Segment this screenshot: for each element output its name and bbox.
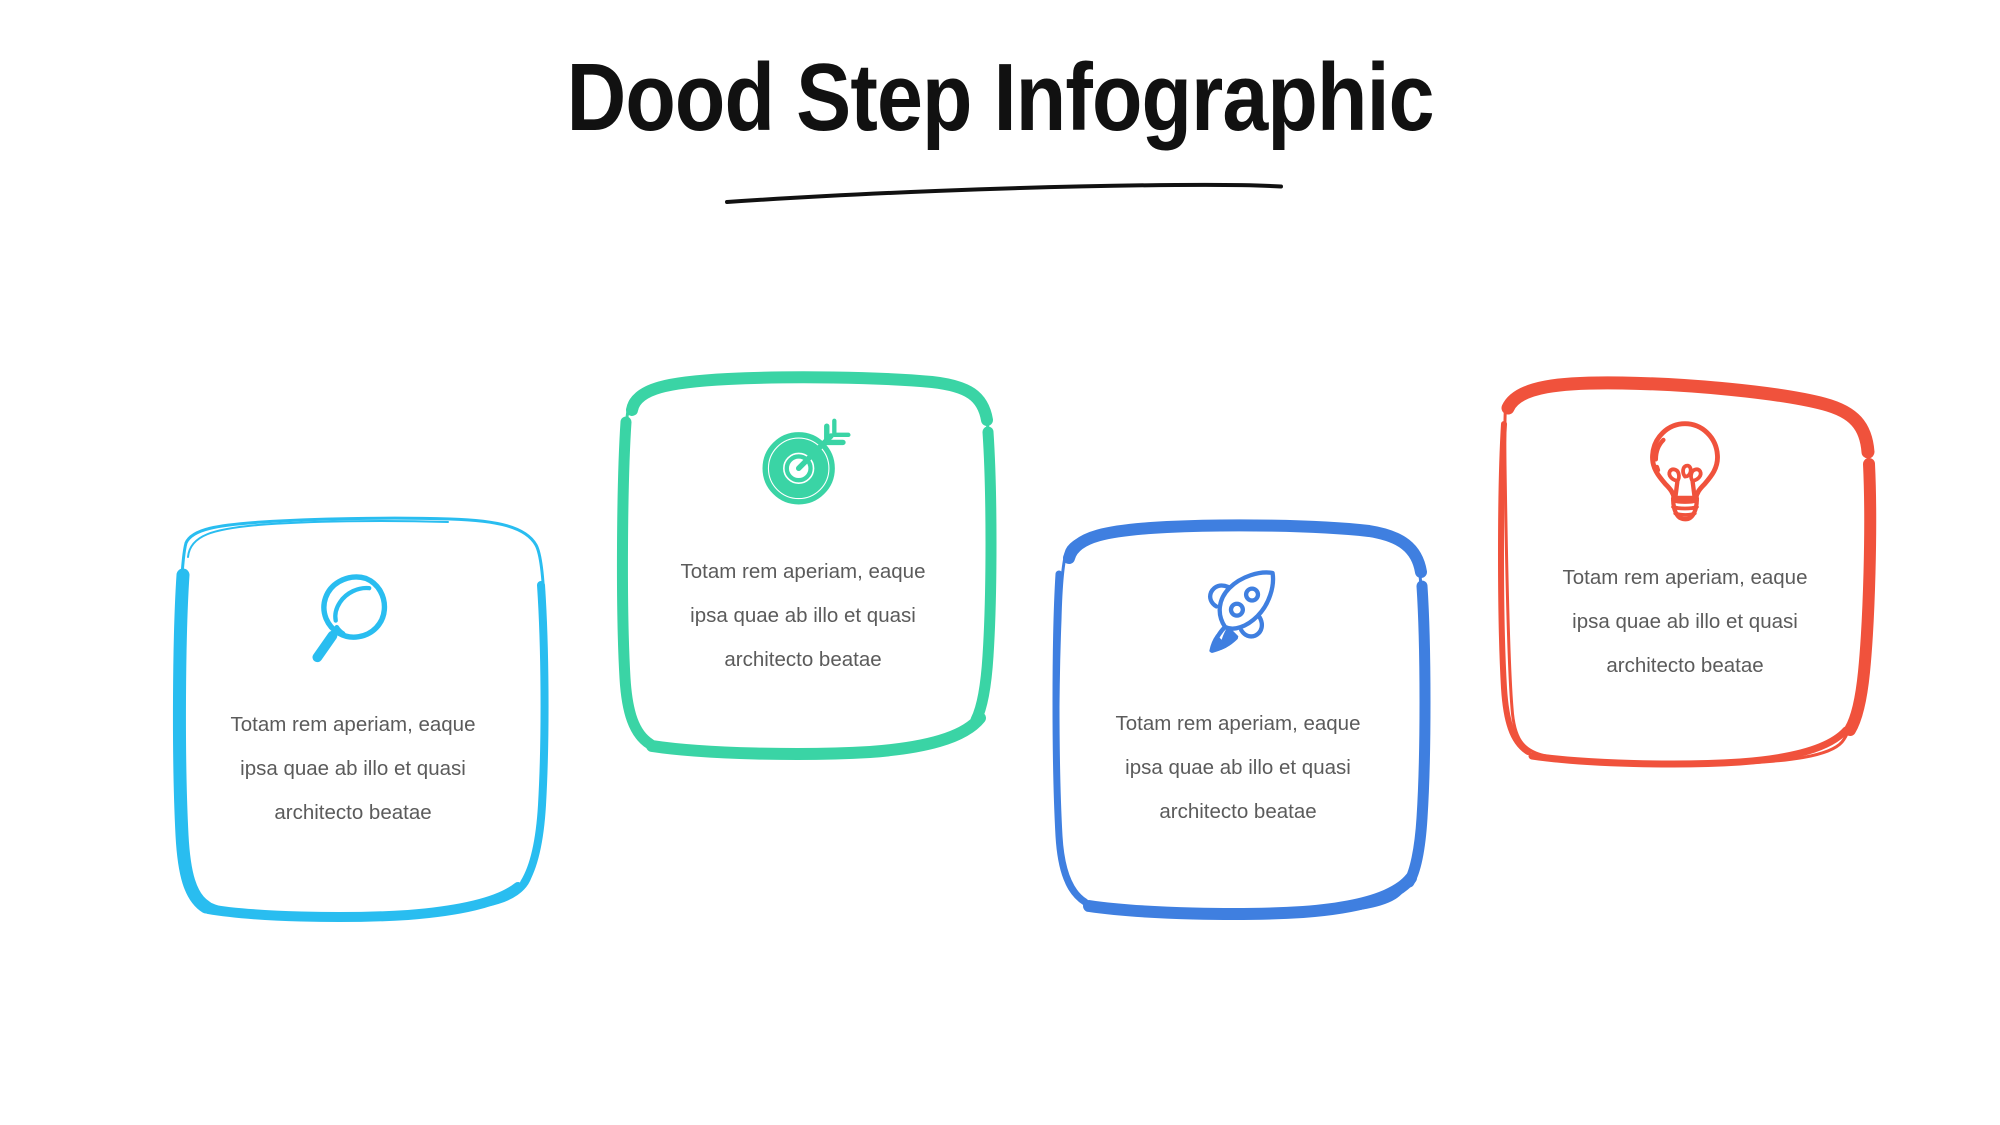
icon-slot-1 [158,559,548,667]
card-body-line: Totam rem aperiam, eaque [203,703,503,747]
card-body-1: Totam rem aperiam, eaque ipsa quae ab il… [203,703,503,835]
icon-slot-2 [608,410,998,518]
card-body-line: architecto beatae [203,791,503,835]
card-body-line: ipsa quae ab illo et quasi [1535,600,1835,644]
card-body-line: Totam rem aperiam, eaque [1535,556,1835,600]
card-body-2: Totam rem aperiam, eaque ipsa quae ab il… [653,550,953,682]
card-body-line: architecto beatae [1088,790,1388,834]
card-body-3: Totam rem aperiam, eaque ipsa quae ab il… [1088,702,1388,834]
card-body-4: Totam rem aperiam, eaque ipsa quae ab il… [1535,556,1835,688]
lightbulb-icon [1631,414,1739,522]
magnifier-icon [299,559,407,667]
card-body-line: ipsa quae ab illo et quasi [653,594,953,638]
icon-slot-3 [1043,560,1433,668]
card-body-line: Totam rem aperiam, eaque [653,550,953,594]
card-body-line: architecto beatae [1535,644,1835,688]
step-card-1[interactable]: Totam rem aperiam, eaque ipsa quae ab il… [158,505,548,955]
step-card-2[interactable]: Totam rem aperiam, eaque ipsa quae ab il… [608,362,998,812]
card-body-line: Totam rem aperiam, eaque [1088,702,1388,746]
icon-slot-4 [1490,414,1880,522]
step-card-4[interactable]: Totam rem aperiam, eaque ipsa quae ab il… [1490,368,1880,818]
step-card-3[interactable]: Totam rem aperiam, eaque ipsa quae ab il… [1043,508,1433,958]
card-body-line: ipsa quae ab illo et quasi [1088,746,1388,790]
card-body-line: ipsa quae ab illo et quasi [203,747,503,791]
rocket-icon [1184,560,1292,668]
steps-container: Totam rem aperiam, eaque ipsa quae ab il… [0,0,2000,1125]
target-icon [749,410,857,518]
card-body-line: architecto beatae [653,638,953,682]
